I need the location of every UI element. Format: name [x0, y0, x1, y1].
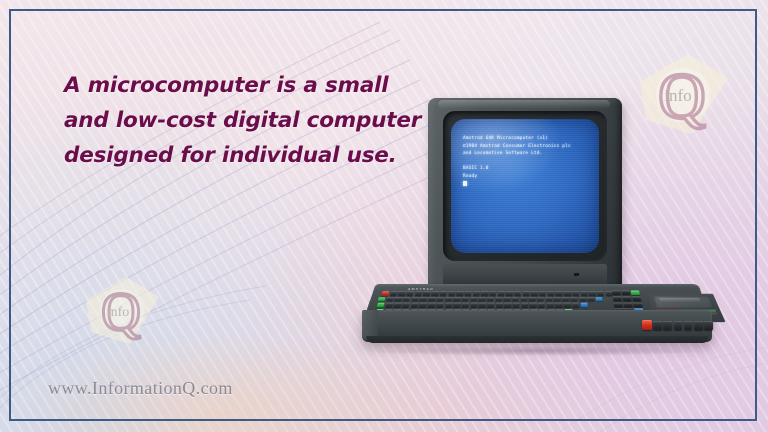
- keyboard-key[interactable]: [521, 303, 528, 307]
- keyboard-key[interactable]: [520, 297, 527, 301]
- keyboard-key[interactable]: [470, 297, 478, 301]
- keyboard-key[interactable]: [579, 297, 587, 301]
- cassette-transport-buttons[interactable]: [642, 320, 713, 330]
- numpad-row[interactable]: [613, 296, 641, 301]
- deck-button-pause[interactable]: [704, 321, 713, 330]
- keyboard-key[interactable]: [377, 297, 385, 301]
- keyboard-key[interactable]: [522, 291, 529, 295]
- keyboard-key[interactable]: [453, 303, 461, 307]
- keyboard-key[interactable]: [453, 297, 461, 301]
- keyboard-key[interactable]: [436, 303, 444, 307]
- keyboard-unit[interactable]: AMSTRAD: [352, 270, 722, 356]
- deck-button-play[interactable]: [674, 321, 683, 330]
- keyboard-key[interactable]: [448, 291, 456, 295]
- keyboard-key[interactable]: [563, 303, 570, 307]
- keyboard-key[interactable]: [537, 297, 544, 301]
- numpad-row[interactable]: [614, 302, 643, 307]
- keyboard-key[interactable]: [419, 297, 427, 301]
- keyboard-key[interactable]: [489, 291, 496, 295]
- crt-screen: Amstrad 64K Microcomputer (v1) ©1984 Ams…: [451, 119, 599, 253]
- keyboard-key[interactable]: [514, 291, 521, 295]
- keyboard-key[interactable]: [580, 291, 587, 295]
- keyboard-key[interactable]: [530, 303, 537, 307]
- keyboard-key[interactable]: [529, 297, 536, 301]
- keyboard-key[interactable]: [398, 291, 406, 295]
- keyboard-key[interactable]: [597, 291, 605, 295]
- cassette-window-gloss: [659, 298, 701, 302]
- key-row-numbers[interactable]: [377, 297, 603, 301]
- keyboard-key[interactable]: [386, 297, 394, 301]
- keyboard-key[interactable]: [495, 297, 502, 301]
- site-url-watermark: www.InformationQ.com: [48, 378, 233, 399]
- keyboard-key[interactable]: [595, 297, 603, 301]
- deck-button-record[interactable]: [642, 320, 652, 330]
- keyboard-key[interactable]: [562, 297, 569, 301]
- keyboard-key[interactable]: [572, 291, 579, 295]
- keyboard-key[interactable]: [587, 297, 595, 301]
- keyboard-key[interactable]: [394, 297, 402, 301]
- keyboard-key[interactable]: [479, 303, 487, 307]
- keyboard-key[interactable]: [506, 291, 513, 295]
- keyboard-key[interactable]: [423, 291, 431, 295]
- keyboard-key[interactable]: [456, 291, 464, 295]
- keyboard-key[interactable]: [547, 291, 554, 295]
- keyboard-key[interactable]: [539, 291, 546, 295]
- keyboard-key[interactable]: [531, 291, 538, 295]
- keyboard-key[interactable]: [411, 303, 419, 307]
- deck-button-forward[interactable]: [663, 321, 672, 330]
- brand-logo: AMSTRAD: [407, 288, 434, 291]
- headline-line-3: designed for individual use.: [64, 138, 464, 173]
- monitor-bezel: Amstrad 64K Microcomputer (v1) ©1984 Ams…: [443, 111, 607, 261]
- keyboard-key[interactable]: [513, 303, 520, 307]
- keyboard-key[interactable]: [406, 291, 414, 295]
- keyboard-key[interactable]: [411, 297, 419, 301]
- numpad-key[interactable]: [631, 291, 640, 296]
- keyboard-key[interactable]: [481, 291, 488, 295]
- keyboard-key[interactable]: [503, 297, 510, 301]
- keyboard-key[interactable]: [538, 303, 545, 307]
- cassette-window: [653, 296, 714, 308]
- numpad-key[interactable]: [622, 296, 631, 301]
- keyboard-key[interactable]: [554, 297, 561, 301]
- keyboard-key[interactable]: [390, 291, 398, 295]
- numpad-key[interactable]: [614, 302, 623, 307]
- keyboard-key[interactable]: [580, 303, 588, 307]
- numpad-key[interactable]: [632, 296, 641, 301]
- deck-button-stop[interactable]: [684, 321, 693, 330]
- keyboard-key[interactable]: [385, 303, 394, 307]
- keyboard-key[interactable]: [431, 291, 439, 295]
- key-row-function[interactable]: [381, 291, 612, 295]
- svg-text:info: info: [107, 305, 130, 320]
- keyboard-key[interactable]: [403, 297, 411, 301]
- keyboard-key[interactable]: [504, 303, 511, 307]
- keyboard-key[interactable]: [439, 291, 447, 295]
- numpad-key[interactable]: [633, 302, 642, 307]
- keyboard-key[interactable]: [512, 297, 519, 301]
- keyboard-key[interactable]: [394, 303, 402, 307]
- headline-line-1: A microcomputer is a small: [64, 68, 464, 103]
- keyboard-key[interactable]: [572, 303, 580, 307]
- keyboard-key[interactable]: [464, 291, 472, 295]
- keyboard-key[interactable]: [445, 303, 453, 307]
- keyboard-key[interactable]: [546, 303, 553, 307]
- keyboard-shadow: [368, 346, 708, 356]
- slide-canvas: Q info Q info A microcomputer is a small…: [0, 0, 768, 432]
- keyboard-key[interactable]: [487, 297, 495, 301]
- keyboard-key[interactable]: [570, 297, 577, 301]
- keyboard-key[interactable]: [402, 303, 410, 307]
- keyboard-key[interactable]: [381, 291, 389, 295]
- page-title: A microcomputer is a small and low-cost …: [64, 68, 464, 173]
- keyboard-key[interactable]: [428, 297, 436, 301]
- keyboard-key[interactable]: [470, 303, 478, 307]
- keyboard-key[interactable]: [588, 291, 596, 295]
- deck-button-rewind[interactable]: [653, 321, 662, 330]
- keyboard-key[interactable]: [419, 303, 427, 307]
- keyboard-key[interactable]: [428, 303, 436, 307]
- numpad-key[interactable]: [612, 291, 621, 296]
- keyboard-key[interactable]: [473, 291, 481, 295]
- watermark-logo-bottom-left: Q info: [78, 272, 164, 352]
- keyboard-key[interactable]: [487, 303, 495, 307]
- numpad-row[interactable]: [612, 291, 640, 296]
- keyboard-key[interactable]: [478, 297, 486, 301]
- keyboard-key[interactable]: [461, 297, 469, 301]
- numpad-key[interactable]: [623, 302, 632, 307]
- keyboard-key[interactable]: [564, 291, 571, 295]
- screen-glare: [451, 119, 563, 195]
- headline-line-2: and low-cost digital computer: [64, 103, 464, 138]
- keyboard-key[interactable]: [445, 297, 453, 301]
- key-row-qwerty[interactable]: [377, 303, 588, 307]
- keyboard-key[interactable]: [414, 291, 422, 295]
- keyboard-key[interactable]: [496, 303, 504, 307]
- keyboard-key[interactable]: [555, 303, 562, 307]
- keyboard-front-edge: [366, 336, 708, 343]
- deck-button-eject[interactable]: [694, 321, 703, 330]
- numpad-key[interactable]: [621, 291, 630, 296]
- keyboard-key[interactable]: [377, 303, 386, 307]
- keyboard-key[interactable]: [545, 297, 552, 301]
- numpad-key[interactable]: [613, 296, 622, 301]
- keyboard-key[interactable]: [462, 303, 470, 307]
- keyboard-key[interactable]: [555, 291, 562, 295]
- keyboard-key[interactable]: [497, 291, 504, 295]
- keyboard-key[interactable]: [436, 297, 444, 301]
